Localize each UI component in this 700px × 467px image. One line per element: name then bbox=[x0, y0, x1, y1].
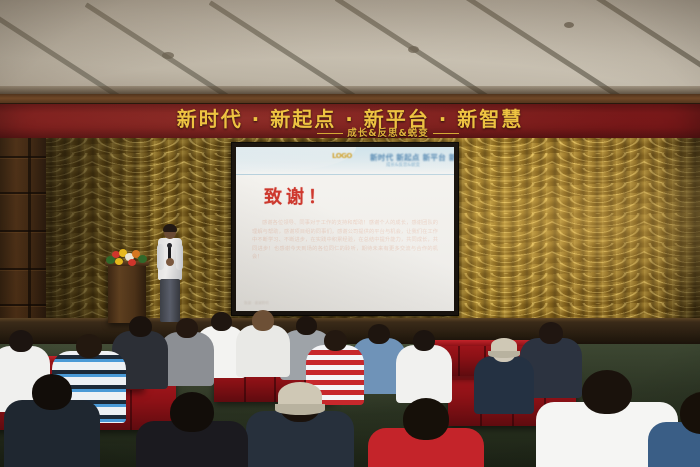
audience-torso bbox=[160, 332, 214, 386]
flower-arrangement bbox=[104, 248, 150, 268]
audience-member-blue-shirt-foreground-far bbox=[648, 392, 700, 467]
slide-footer-text: 致谢 · 谢谢聆听 bbox=[244, 301, 269, 306]
panel-groove bbox=[0, 156, 46, 158]
audience-head bbox=[403, 398, 449, 440]
panel-groove bbox=[0, 304, 46, 306]
panel-seam bbox=[28, 138, 31, 330]
audience-head bbox=[324, 330, 347, 351]
speaker-hand bbox=[166, 258, 174, 266]
microphone-head-icon bbox=[167, 243, 172, 248]
audience-head bbox=[9, 330, 33, 352]
speaker-presenter bbox=[157, 226, 183, 322]
conference-hall-photo: 新时代 · 新起点 · 新平台 · 新智慧 成长&反思&蜕变 LOGO 新时代 … bbox=[0, 0, 700, 467]
audience-head bbox=[413, 330, 435, 351]
ceiling bbox=[0, 0, 700, 96]
audience-member-capped-man-foreground bbox=[246, 384, 354, 467]
audience-head bbox=[368, 324, 390, 344]
flower-bloom bbox=[128, 259, 136, 266]
tablecloth-fold bbox=[458, 346, 460, 376]
audience-member-bald-man-centre bbox=[236, 310, 290, 383]
audience-head bbox=[170, 392, 214, 432]
audience-head bbox=[32, 374, 72, 410]
banner-rule-left bbox=[317, 133, 343, 134]
audience-torso bbox=[236, 325, 290, 377]
audience-head bbox=[176, 318, 198, 338]
projection-screen-frame: LOGO 新时代 新起点 新平台 新智慧 成长&反思&蜕变 致谢！ 感谢各位领导… bbox=[231, 142, 459, 316]
slide-header-subtext: 成长&反思&蜕变 bbox=[386, 162, 420, 168]
event-banner: 新时代 · 新起点 · 新平台 · 新智慧 成长&反思&蜕变 bbox=[0, 104, 700, 140]
audience-member-grey-shirt-mid-left bbox=[160, 318, 214, 392]
slide-header-rule bbox=[236, 174, 454, 175]
speaker-arm-left bbox=[157, 244, 164, 270]
audience-torso bbox=[4, 400, 100, 467]
banner-rule-right bbox=[433, 133, 459, 134]
slide-body-text: 感谢各位领导、同事对于工作的支持和帮助！感谢个人的成长，感谢团队的理解与帮助，感… bbox=[252, 219, 438, 262]
audience-head bbox=[211, 312, 232, 331]
flower-leaf bbox=[138, 255, 147, 263]
speaker-arm-right bbox=[176, 244, 183, 270]
audience-head bbox=[76, 334, 102, 358]
slide-logo: LOGO bbox=[332, 152, 352, 160]
audience-head bbox=[129, 316, 152, 337]
audience-head bbox=[539, 322, 563, 344]
projection-screen: LOGO 新时代 新起点 新平台 新智慧 成长&反思&蜕变 致谢！ 感谢各位领导… bbox=[236, 147, 454, 311]
audience-head bbox=[582, 370, 632, 414]
audience-member-dark-shirt-far-left bbox=[4, 374, 100, 467]
audience-member-black-hair-foreground-l bbox=[136, 392, 248, 467]
podium bbox=[108, 263, 146, 323]
audience-head bbox=[252, 310, 274, 331]
wood-wall-panel-left bbox=[0, 138, 46, 330]
banner-sub-text: 成长&反思&蜕变 bbox=[258, 125, 518, 139]
audience-torso bbox=[396, 345, 452, 403]
cap-brim bbox=[488, 351, 520, 358]
speaker-hair bbox=[163, 224, 177, 232]
panel-groove bbox=[0, 230, 46, 232]
panel-groove bbox=[0, 192, 46, 194]
panel-groove bbox=[0, 268, 46, 270]
slide-title: 致谢！ bbox=[264, 183, 330, 209]
flower-bloom bbox=[115, 258, 123, 265]
ceiling-shading bbox=[0, 0, 700, 96]
cap-brim bbox=[275, 404, 325, 415]
audience-member-red-shirt-foreground bbox=[368, 398, 484, 467]
